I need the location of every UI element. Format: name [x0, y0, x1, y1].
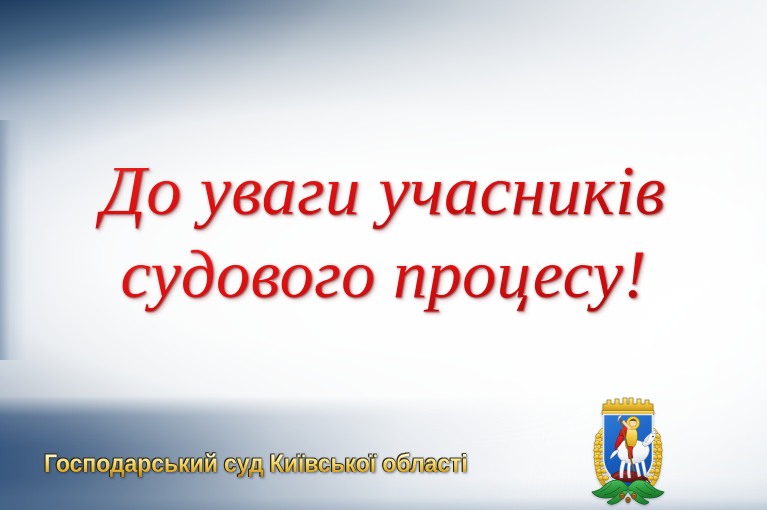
mural-crown-icon [602, 398, 654, 415]
announcement-banner: До уваги учасників судового процесу! Гос… [0, 0, 767, 510]
court-wordmark: Господарський суд Київської області [44, 452, 468, 477]
headline-line-2: судового процесу! [0, 234, 767, 316]
acorns [619, 493, 636, 503]
coat-of-arms-kyiv-oblast [578, 392, 678, 508]
blue-shield [604, 415, 657, 488]
headline-line-1: До уваги учасників [0, 150, 767, 234]
headline-block: До уваги учасників судового процесу! [0, 150, 767, 316]
